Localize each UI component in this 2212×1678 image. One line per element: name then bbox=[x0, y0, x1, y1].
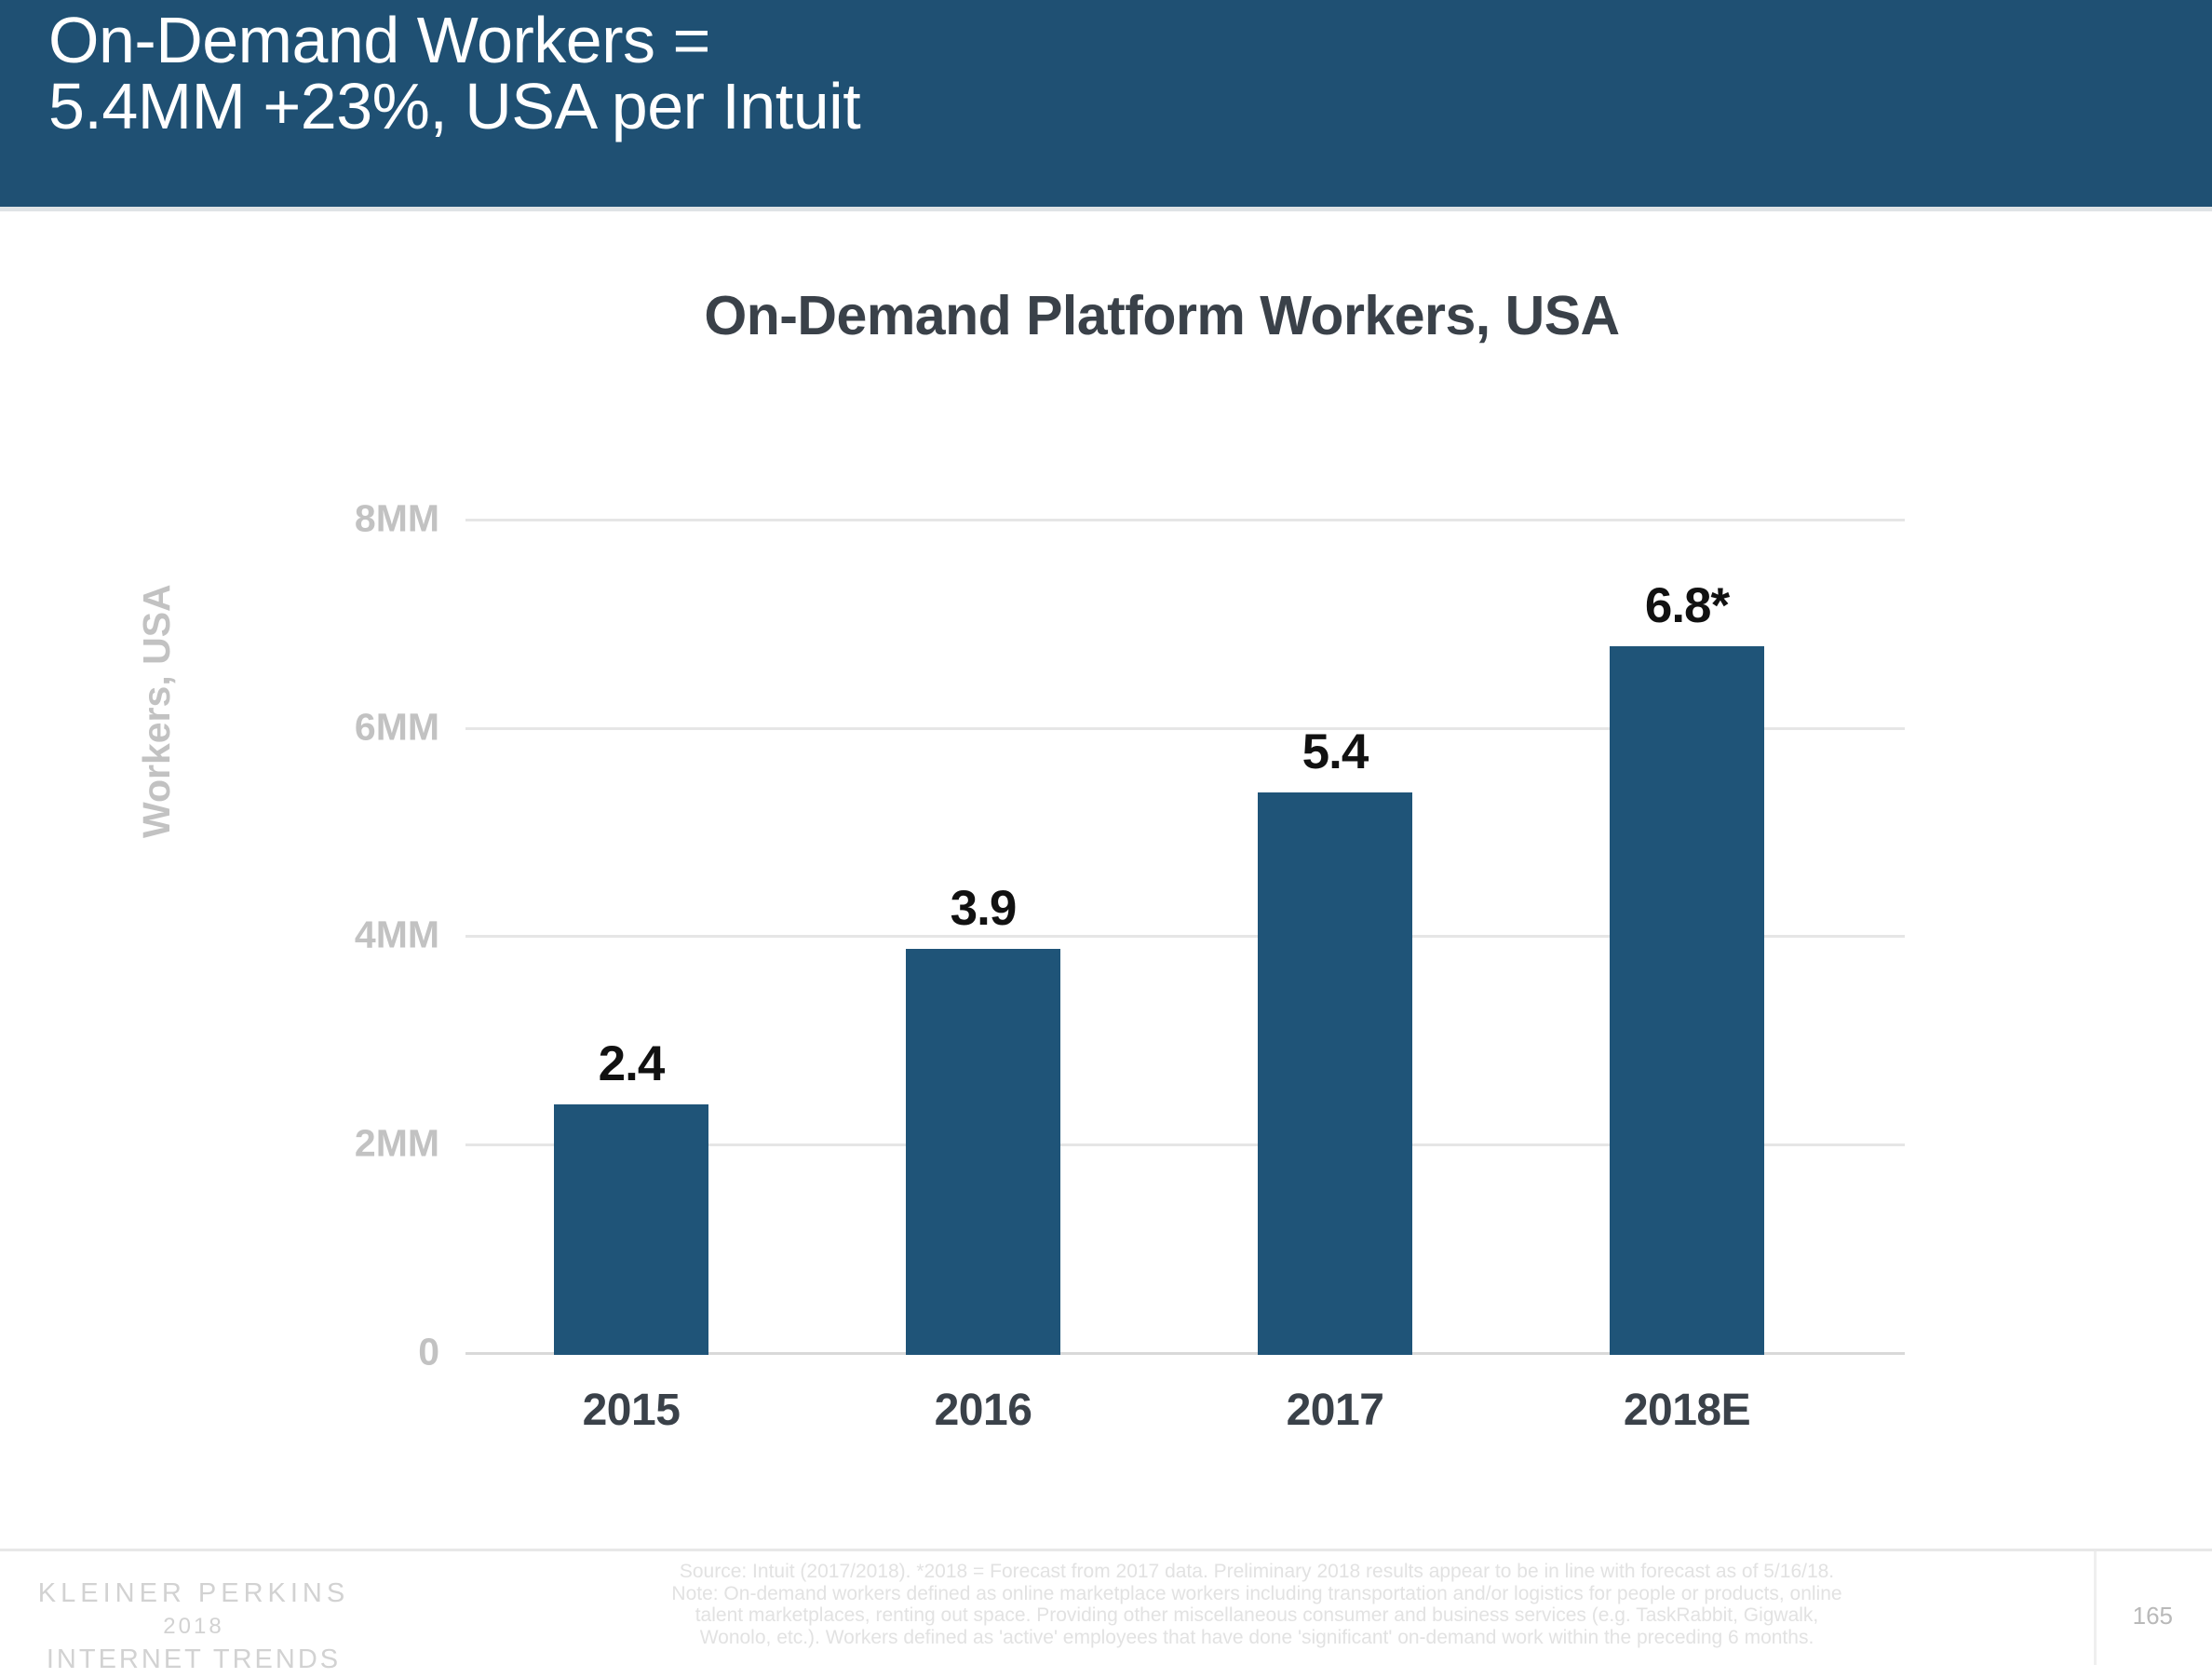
x-axis-label-2017: 2017 bbox=[1230, 1385, 1440, 1436]
bar-slot-2016: 3.9 2016 bbox=[906, 521, 1060, 1355]
footnote-line-3: talent marketplaces, renting out space. … bbox=[559, 1604, 1955, 1627]
y-tick-label-8mm: 8MM bbox=[355, 497, 439, 541]
bar-series: 2.4 2015 3.9 2016 5.4 2017 6.8* 2018E bbox=[465, 521, 1905, 1355]
x-axis-label-2018e: 2018E bbox=[1582, 1385, 1792, 1436]
bar-2015[interactable] bbox=[554, 1104, 708, 1355]
plot-area: Workers, USA 8MM 6MM 4MM 2MM 0 2.4 2015 bbox=[465, 521, 1905, 1355]
chart-area: On-Demand Platform Workers, USA Workers,… bbox=[0, 211, 2212, 1536]
x-axis-label-2015: 2015 bbox=[526, 1385, 736, 1436]
bar-2016[interactable] bbox=[906, 949, 1060, 1355]
chart-title: On-Demand Platform Workers, USA bbox=[0, 284, 2212, 347]
bar-2017[interactable] bbox=[1258, 792, 1412, 1355]
bar-slot-2017: 5.4 2017 bbox=[1258, 521, 1412, 1355]
y-tick-label-0: 0 bbox=[418, 1331, 439, 1374]
slide-title: On-Demand Workers = 5.4MM +23%, USA per … bbox=[48, 7, 2212, 141]
slide-footer: KLEINER PERKINS 2018 INTERNET TRENDS Sou… bbox=[0, 1551, 2212, 1665]
bar-value-2017: 5.4 bbox=[1258, 724, 1412, 780]
logo-line-2: 2018 bbox=[35, 1612, 352, 1642]
footnote-block: Source: Intuit (2017/2018). *2018 = Fore… bbox=[559, 1561, 1955, 1648]
footnote-line-2: Note: On-demand workers defined as onlin… bbox=[559, 1583, 1955, 1605]
bar-value-2018e: 6.8* bbox=[1610, 577, 1764, 634]
y-tick-label-4mm: 4MM bbox=[355, 913, 439, 957]
footnote-line-4: Wonolo, etc.). Workers defined as 'activ… bbox=[559, 1627, 1955, 1649]
bar-value-2015: 2.4 bbox=[554, 1035, 708, 1092]
bar-slot-2015: 2.4 2015 bbox=[554, 521, 708, 1355]
kleiner-perkins-logo: KLEINER PERKINS 2018 INTERNET TRENDS bbox=[35, 1576, 352, 1678]
footnote-line-1: Source: Intuit (2017/2018). *2018 = Fore… bbox=[559, 1561, 1955, 1583]
logo-line-3: INTERNET TRENDS bbox=[35, 1642, 352, 1678]
bar-slot-2018e: 6.8* 2018E bbox=[1610, 521, 1764, 1355]
y-tick-label-2mm: 2MM bbox=[355, 1122, 439, 1166]
footer-vertical-divider bbox=[2094, 1551, 2097, 1665]
y-tick-label-6mm: 6MM bbox=[355, 706, 439, 750]
y-axis-title: Workers, USA bbox=[135, 584, 179, 838]
slide-header: On-Demand Workers = 5.4MM +23%, USA per … bbox=[0, 0, 2212, 207]
x-axis-label-2016: 2016 bbox=[878, 1385, 1088, 1436]
bar-2018e[interactable] bbox=[1610, 646, 1764, 1355]
bar-value-2016: 3.9 bbox=[906, 880, 1060, 937]
page-number: 165 bbox=[2133, 1602, 2173, 1631]
logo-line-1: KLEINER PERKINS bbox=[35, 1576, 352, 1612]
